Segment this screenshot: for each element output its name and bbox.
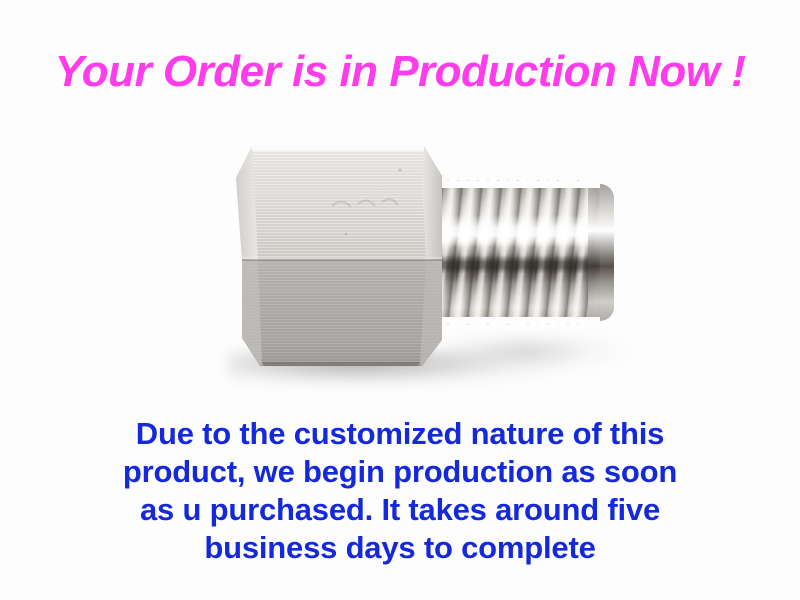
male-thread-nipple (428, 170, 612, 335)
thread-crest-top (428, 172, 600, 188)
hex-bottom-face (242, 260, 442, 366)
page-title: Your Order is in Production Now ! (0, 46, 800, 99)
poster-canvas: Your Order is in Production Now ! (0, 0, 800, 600)
hex-nut-body (228, 142, 446, 370)
notice-line-4: business days to complete (0, 529, 800, 567)
cast-shadow-right (450, 335, 640, 375)
notice-line-3: as u purchased. It takes around five (0, 491, 800, 529)
thread-crest-bottom (428, 317, 600, 333)
production-notice: Due to the customized nature of this pro… (0, 415, 800, 567)
notice-line-1: Due to the customized nature of this (0, 415, 800, 453)
thread-end-cap (588, 184, 614, 321)
product-image (200, 120, 660, 410)
notice-line-2: product, we begin production as soon (0, 453, 800, 491)
thread-cylinder (428, 180, 600, 325)
thread-ribs (428, 180, 600, 325)
